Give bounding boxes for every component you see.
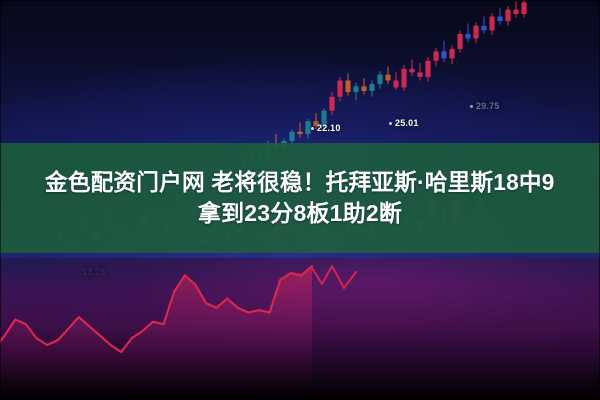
label-value: 29.75 xyxy=(476,101,500,111)
label-value: 22.10 xyxy=(317,123,341,133)
candlestick-15 xyxy=(361,78,366,94)
candlestick-33 xyxy=(505,6,510,26)
label-marker-dot xyxy=(470,105,473,108)
label-marker-dot xyxy=(311,127,314,130)
candlestick-35 xyxy=(521,0,526,18)
label-29-75: 29.75 xyxy=(470,101,500,111)
candlestick-34 xyxy=(513,1,518,17)
screenshot-stage: 22.1025.0129.7518.0718.7513.28 金色配资门户网 老… xyxy=(0,0,600,400)
label-marker-dot xyxy=(389,122,392,125)
candlestick-16 xyxy=(369,80,374,96)
candlestick-32 xyxy=(497,8,502,24)
lower-line-series xyxy=(0,266,356,400)
label-value: 13.28 xyxy=(82,267,106,277)
candlestick-19 xyxy=(393,72,398,89)
label-13-28: 13.28 xyxy=(82,267,106,277)
candlestick-30 xyxy=(481,16,486,33)
headline-text-block: 金色配资门户网 老将很稳！托拜亚斯·哈里斯18中9 拿到23分8板1助2断 xyxy=(0,143,600,253)
candlestick-18 xyxy=(385,67,390,84)
candlestick-25 xyxy=(441,41,446,62)
candlestick-13 xyxy=(345,73,350,95)
label-25-01: 25.01 xyxy=(389,118,419,128)
lower-line-area-fill xyxy=(0,266,312,400)
label-value: 25.01 xyxy=(395,118,419,128)
headline-line-1: 金色配资门户网 老将很稳！托拜亚斯·哈里斯18中9 xyxy=(45,169,555,196)
candlestick-22 xyxy=(417,63,422,80)
candlestick-26 xyxy=(449,46,454,65)
candlestick-23 xyxy=(425,57,430,81)
candlestick-27 xyxy=(457,30,462,52)
candlestick-17 xyxy=(377,71,382,88)
candlestick-28 xyxy=(465,23,470,42)
candlestick-12 xyxy=(337,77,342,101)
candlestick-29 xyxy=(473,22,478,43)
candlestick-20 xyxy=(401,65,406,91)
lower-line-tail xyxy=(312,266,356,288)
candlestick-11 xyxy=(329,92,334,115)
label-22-10: 22.10 xyxy=(311,123,341,133)
candlestick-8 xyxy=(305,119,310,139)
candlestick-24 xyxy=(433,48,438,67)
candlestick-14 xyxy=(353,83,358,100)
headline-line-2: 拿到23分8板1助2断 xyxy=(198,200,402,227)
candlestick-31 xyxy=(489,13,494,35)
candlestick-21 xyxy=(409,60,414,76)
candlestick-7 xyxy=(297,122,302,137)
